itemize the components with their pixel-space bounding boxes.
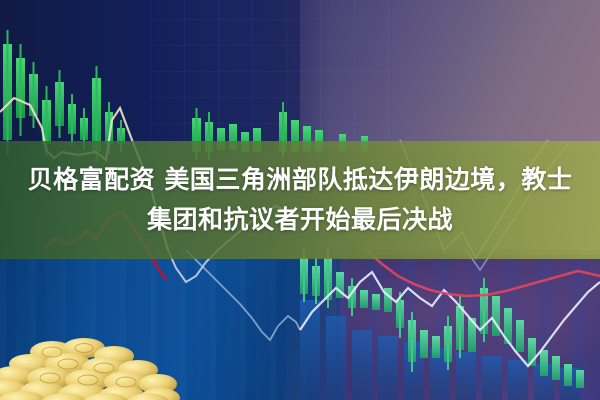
news-thumbnail: 贝格富配资 美国三角洲部队抵达伊朗边境，教士 集团和抗议者开始最后决战 — [0, 0, 600, 400]
trend-line-descending — [186, 250, 300, 340]
headline-text: 贝格富配资 美国三角洲部队抵达伊朗边境，教士 集团和抗议者开始最后决战 — [0, 141, 600, 259]
headline-line-2: 集团和抗议者开始最后决战 — [147, 202, 453, 238]
headline-line-1: 贝格富配资 美国三角洲部队抵达伊朗边境，教士 — [28, 162, 573, 198]
gold-coins-graphic — [0, 330, 202, 400]
